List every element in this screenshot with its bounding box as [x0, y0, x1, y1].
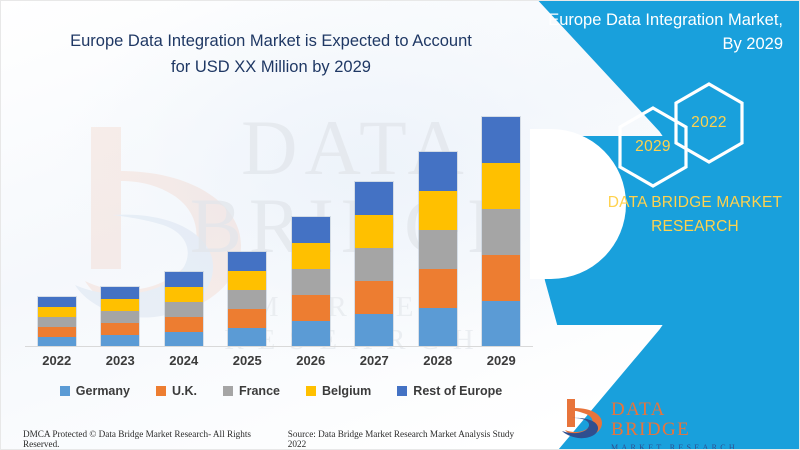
bar-segment-u-k — [419, 269, 457, 308]
bar-segment-rest-of-europe — [292, 217, 330, 243]
bar-segment-france — [228, 290, 266, 309]
stacked-bar-2024 — [164, 271, 204, 347]
chart-plot-area — [25, 96, 533, 347]
bar-segment-france — [165, 302, 203, 317]
x-axis-label-2028: 2028 — [408, 353, 468, 368]
bar-segment-france — [419, 230, 457, 269]
logo-line2: MARKET RESEARCH — [611, 443, 741, 450]
infographic-root: DATA BRIDGE MARKET RESEARCH Europe Data … — [0, 0, 800, 450]
bar-segment-germany — [292, 321, 330, 347]
stacked-bar-2026 — [291, 216, 331, 347]
x-axis-label-2022: 2022 — [27, 353, 87, 368]
bar-segment-rest-of-europe — [228, 252, 266, 271]
bar-segment-france — [38, 317, 76, 327]
bar-segment-belgium — [101, 299, 139, 311]
bar-segment-belgium — [482, 163, 520, 209]
legend-swatch-icon — [156, 386, 166, 396]
panel-brand-text: DATA BRIDGE MARKET RESEARCH — [589, 191, 800, 239]
logo-wordmark: DATA BRIDGE MARKET RESEARCH — [611, 400, 741, 450]
stacked-bar-2022 — [37, 296, 77, 347]
stacked-bar-2029 — [481, 116, 521, 347]
panel-title: Europe Data Integration Market, By 2029 — [529, 9, 783, 57]
legend-label: Germany — [76, 384, 130, 398]
bar-segment-rest-of-europe — [355, 182, 393, 215]
bar-segment-belgium — [355, 215, 393, 248]
hexagon-badges: 2029 2022 — [616, 87, 786, 187]
bar-segment-belgium — [165, 287, 203, 302]
bar-segment-belgium — [419, 191, 457, 230]
bar-segment-rest-of-europe — [101, 287, 139, 299]
legend-item-belgium[interactable]: Belgium — [306, 384, 371, 398]
legend-swatch-icon — [306, 386, 316, 396]
legend-swatch-icon — [60, 386, 70, 396]
x-axis-label-2026: 2026 — [281, 353, 341, 368]
x-axis-label-2029: 2029 — [471, 353, 531, 368]
x-axis-label-2023: 2023 — [90, 353, 150, 368]
legend-label: U.K. — [172, 384, 197, 398]
legend-swatch-icon — [397, 386, 407, 396]
bar-segment-u-k — [482, 255, 520, 301]
bar-segment-u-k — [101, 323, 139, 335]
bar-segment-rest-of-europe — [419, 152, 457, 191]
x-axis-labels: 20222023202420252026202720282029 — [25, 353, 533, 368]
bar-segment-u-k — [38, 327, 76, 337]
bar-segment-france — [482, 209, 520, 255]
bar-segment-belgium — [292, 243, 330, 269]
bar-segment-u-k — [355, 281, 393, 314]
footer-copyright: DMCA Protected © Data Bridge Market Rese… — [23, 429, 288, 449]
bar-segment-france — [101, 311, 139, 323]
bar-segment-rest-of-europe — [165, 272, 203, 287]
legend-label: Rest of Europe — [413, 384, 502, 398]
bar-segment-france — [355, 248, 393, 281]
data-bridge-logo-icon — [561, 397, 605, 439]
legend-swatch-icon — [223, 386, 233, 396]
stacked-bar-group — [25, 96, 533, 347]
x-axis-line — [25, 346, 533, 347]
x-axis-label-2027: 2027 — [344, 353, 404, 368]
bar-segment-belgium — [38, 307, 76, 317]
stacked-bar-2028 — [418, 151, 458, 347]
legend-item-rest-of-europe[interactable]: Rest of Europe — [397, 384, 502, 398]
hexagon-badge-2022: 2022 — [672, 81, 746, 165]
stacked-bar-2023 — [100, 286, 140, 347]
bar-segment-u-k — [228, 309, 266, 328]
legend-item-u-k[interactable]: U.K. — [156, 384, 197, 398]
bar-segment-rest-of-europe — [482, 117, 520, 163]
bar-segment-germany — [165, 332, 203, 347]
legend-label: France — [239, 384, 280, 398]
bar-segment-germany — [482, 301, 520, 347]
bar-segment-germany — [419, 308, 457, 347]
logo-line1: DATA BRIDGE — [611, 400, 741, 440]
legend-item-france[interactable]: France — [223, 384, 280, 398]
bar-segment-rest-of-europe — [38, 297, 76, 307]
x-axis-label-2024: 2024 — [154, 353, 214, 368]
legend-item-germany[interactable]: Germany — [60, 384, 130, 398]
footer: DMCA Protected © Data Bridge Market Rese… — [23, 429, 533, 449]
hexagon-label-right: 2022 — [691, 114, 727, 132]
bar-segment-france — [292, 269, 330, 295]
chart-legend: GermanyU.K.FranceBelgiumRest of Europe — [31, 384, 531, 398]
footer-source: Source: Data Bridge Market Research Mark… — [288, 429, 533, 449]
stacked-bar-2025 — [227, 251, 267, 347]
hexagon-label-left: 2029 — [635, 138, 671, 156]
x-axis-label-2025: 2025 — [217, 353, 277, 368]
bar-segment-germany — [355, 314, 393, 347]
stacked-bar-2027 — [354, 181, 394, 347]
company-logo: DATA BRIDGE MARKET RESEARCH — [561, 397, 741, 439]
bar-segment-germany — [228, 328, 266, 347]
bar-segment-u-k — [292, 295, 330, 321]
bar-segment-u-k — [165, 317, 203, 332]
bar-segment-belgium — [228, 271, 266, 290]
chart-title: Europe Data Integration Market is Expect… — [59, 29, 483, 80]
legend-label: Belgium — [322, 384, 371, 398]
